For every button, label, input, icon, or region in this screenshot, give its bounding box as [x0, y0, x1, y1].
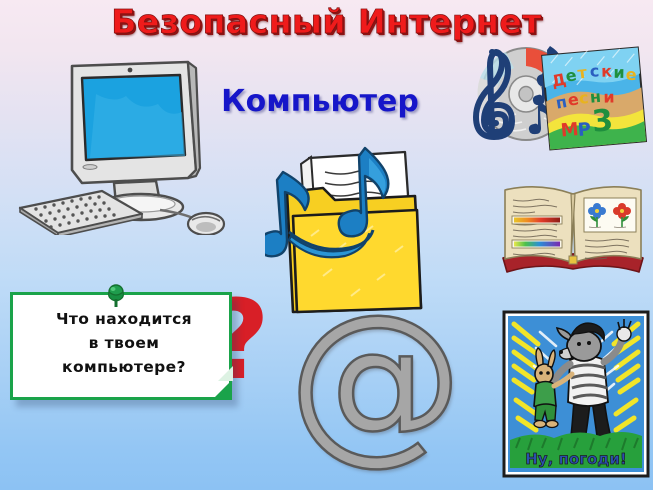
svg-text:и: и — [613, 63, 625, 82]
svg-text:к: к — [601, 62, 612, 81]
music-cd-illustration: Д е т с к и е п е с н и M P 3 — [458, 36, 650, 151]
page-fold-corner — [212, 380, 232, 400]
svg-text:3: 3 — [591, 103, 615, 140]
question-line-1: Что находится — [13, 307, 235, 331]
computer-illustration — [10, 50, 230, 235]
cartoon-poster-illustration: Ну, погоди! — [500, 308, 652, 480]
svg-text:P: P — [577, 119, 592, 141]
pushpin-icon — [99, 283, 133, 309]
open-book-illustration — [497, 172, 649, 292]
at-sign-icon: @ — [288, 296, 448, 466]
svg-text:с: с — [578, 88, 589, 108]
presentation-slide: Безопасный Интернет Компьютер — [0, 0, 653, 490]
poster-caption: Ну, погоди! — [525, 450, 627, 468]
svg-text:е: е — [625, 65, 637, 85]
svg-text:с: с — [589, 61, 599, 80]
question-text: Что находится в твоем компьютере? — [13, 307, 235, 379]
page-fold-corner-inner — [218, 366, 233, 381]
question-line-3: компьютере? — [13, 355, 235, 379]
question-line-2: в твоем — [13, 331, 235, 355]
